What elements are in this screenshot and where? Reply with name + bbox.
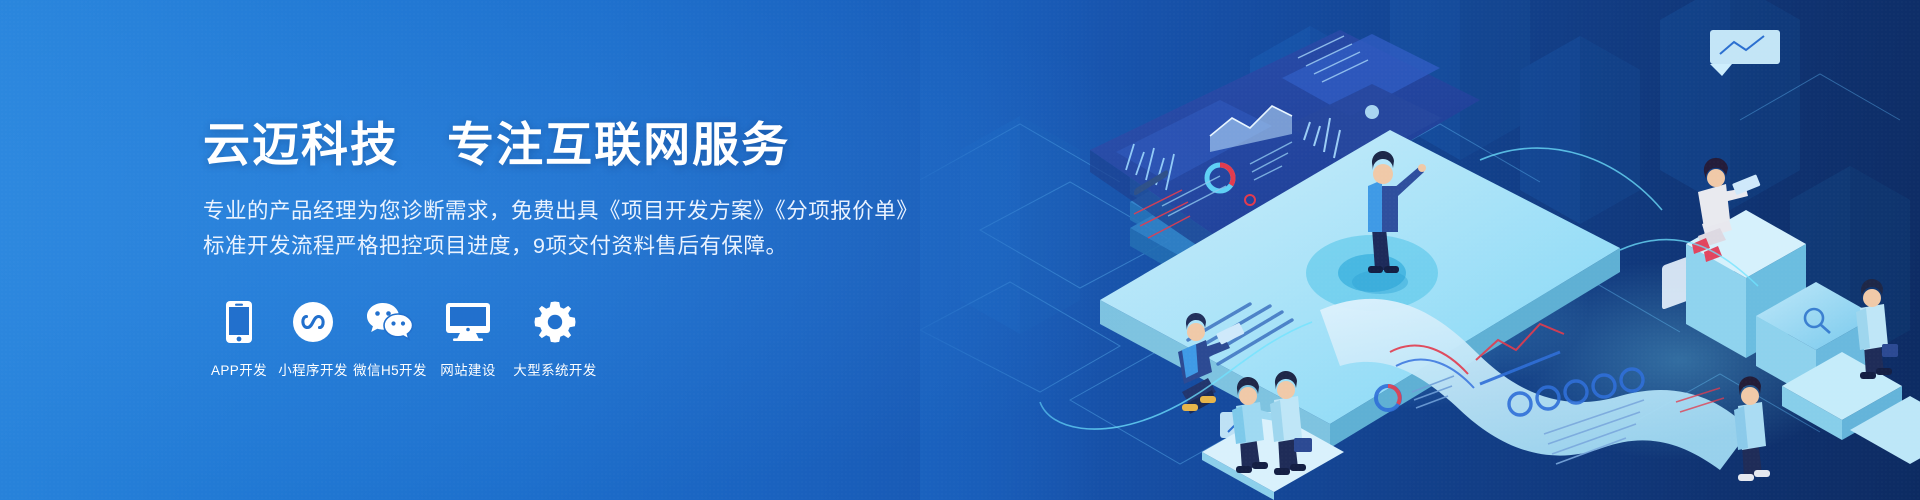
gear-icon bbox=[534, 299, 576, 345]
phone-icon bbox=[226, 299, 252, 345]
service-label: 网站建设 bbox=[440, 359, 496, 379]
service-label: 微信H5开发 bbox=[353, 359, 427, 379]
service-item-website[interactable]: 网站建设 bbox=[430, 299, 506, 379]
service-label: 大型系统开发 bbox=[513, 359, 596, 379]
hero-content: 云迈科技 专注互联网服务 专业的产品经理为您诊断需求，免费出具《项目开发方案》《… bbox=[203, 0, 918, 500]
service-list: APP开发 小程序开发 bbox=[203, 299, 918, 379]
service-item-wechat-h5[interactable]: 微信H5开发 bbox=[351, 299, 429, 379]
monitor-icon bbox=[446, 299, 490, 345]
headline-brand: 云迈科技 bbox=[203, 118, 399, 171]
mini-program-icon bbox=[293, 299, 333, 345]
hero-banner: 云迈科技 专注互联网服务 专业的产品经理为您诊断需求，免费出具《项目开发方案》《… bbox=[0, 0, 1920, 500]
page-title: 云迈科技 专注互联网服务 bbox=[203, 121, 918, 168]
service-item-app[interactable]: APP开发 bbox=[203, 299, 275, 379]
service-item-large-system[interactable]: 大型系统开发 bbox=[507, 299, 603, 379]
wechat-icon bbox=[366, 299, 414, 345]
subtitle-line-1: 专业的产品经理为您诊断需求，免费出具《项目开发方案》《分项报价单》 bbox=[203, 194, 918, 229]
hero-illustration bbox=[920, 0, 1920, 500]
headline-tagline: 专注互联网服务 bbox=[447, 118, 790, 171]
service-item-mini-program[interactable]: 小程序开发 bbox=[276, 299, 350, 379]
subtitle-line-2: 标准开发流程严格把控项目进度，9项交付资料售后有保障。 bbox=[203, 229, 918, 264]
hero-subtitle: 专业的产品经理为您诊断需求，免费出具《项目开发方案》《分项报价单》 标准开发流程… bbox=[203, 194, 918, 264]
service-label: 小程序开发 bbox=[278, 359, 348, 379]
service-label: APP开发 bbox=[211, 359, 267, 379]
